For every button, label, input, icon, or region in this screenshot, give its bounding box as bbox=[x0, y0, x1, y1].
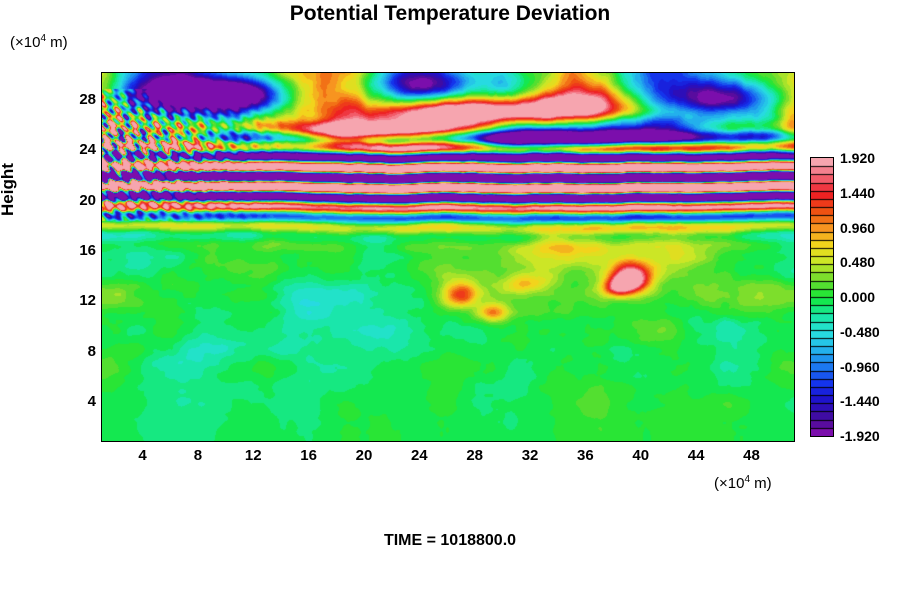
colorbar-tick-label: 0.000 bbox=[840, 289, 875, 305]
plot-area[interactable] bbox=[101, 72, 795, 442]
x-tick-label: 12 bbox=[233, 447, 273, 464]
x-tick-label: 8 bbox=[178, 447, 218, 464]
y-tick-label: 28 bbox=[56, 91, 96, 108]
heatmap-field bbox=[102, 73, 794, 441]
colorbar-tick-label: 0.480 bbox=[840, 254, 875, 270]
colorbar-bands bbox=[811, 158, 833, 436]
y-axis-title: Height bbox=[0, 163, 18, 216]
y-axis-tick-labels: 481216202428 bbox=[52, 72, 96, 440]
colorbar-tick-label: -1.920 bbox=[840, 428, 880, 444]
x-tick-label: 36 bbox=[565, 447, 605, 464]
y-tick-label: 24 bbox=[56, 141, 96, 158]
colorbar-tick-label: -1.440 bbox=[840, 393, 880, 409]
x-axis-tick-labels: 4812162024283236404448 bbox=[101, 447, 793, 469]
colorbar-gradient bbox=[810, 157, 834, 437]
colorbar[interactable]: 1.9201.4400.9600.4800.000-0.480-0.960-1.… bbox=[810, 157, 896, 439]
x-axis-unit-label: (×104 m) bbox=[714, 474, 772, 492]
colorbar-tick-label: 1.440 bbox=[840, 185, 875, 201]
page-title: Potential Temperature Deviation bbox=[0, 2, 900, 26]
colorbar-tick-label: -0.960 bbox=[840, 359, 880, 375]
x-tick-label: 32 bbox=[510, 447, 550, 464]
y-tick-label: 8 bbox=[56, 343, 96, 360]
x-tick-label: 28 bbox=[455, 447, 495, 464]
x-tick-label: 44 bbox=[676, 447, 716, 464]
x-unit-suffix: m) bbox=[750, 475, 772, 492]
y-axis-unit-label: (×104 m) bbox=[10, 33, 68, 51]
colorbar-tick-label: 1.920 bbox=[840, 150, 875, 166]
x-tick-label: 4 bbox=[123, 447, 163, 464]
x-tick-label: 16 bbox=[289, 447, 329, 464]
colorbar-tick-label: -0.480 bbox=[840, 324, 880, 340]
x-unit-prefix: (×10 bbox=[714, 475, 744, 492]
y-tick-label: 16 bbox=[56, 242, 96, 259]
time-annotation: TIME = 1018800.0 bbox=[0, 532, 900, 550]
y-unit-prefix: (×10 bbox=[10, 34, 40, 51]
x-tick-label: 48 bbox=[731, 447, 771, 464]
x-tick-label: 20 bbox=[344, 447, 384, 464]
y-tick-label: 12 bbox=[56, 292, 96, 309]
x-tick-label: 40 bbox=[621, 447, 661, 464]
y-unit-suffix: m) bbox=[46, 34, 68, 51]
figure-canvas: Potential Temperature Deviation (×104 m)… bbox=[0, 0, 900, 600]
colorbar-tick-label: 0.960 bbox=[840, 220, 875, 236]
x-tick-label: 24 bbox=[399, 447, 439, 464]
y-tick-label: 20 bbox=[56, 192, 96, 209]
y-tick-label: 4 bbox=[56, 393, 96, 410]
